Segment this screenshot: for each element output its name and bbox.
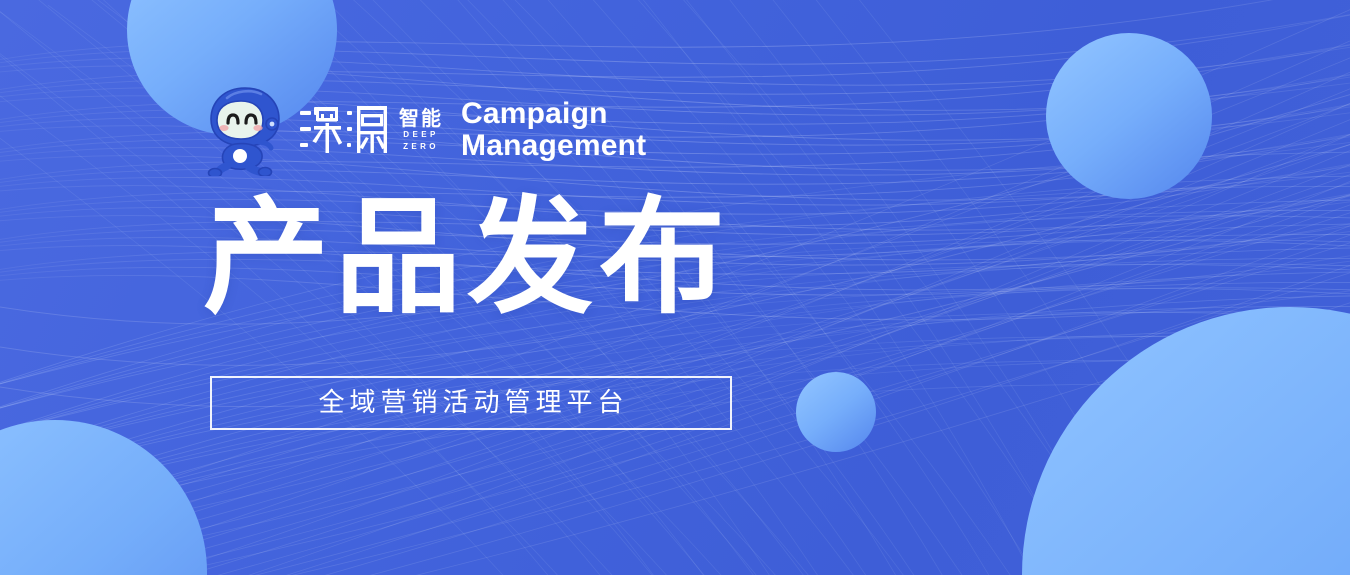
brand-sub-lockup: 智能 DEEP ZERO [399, 108, 443, 152]
subtitle-box: 全域营销活动管理平台 [210, 376, 732, 430]
product-launch-banner: 智能 DEEP ZERO Campaign Management 产品发布 全域… [0, 0, 1350, 575]
page-title: 产品发布 [203, 190, 731, 326]
robot-mascot-icon [203, 84, 287, 176]
brand-sub-en-line1: DEEP [403, 130, 438, 140]
brand-sub-cn-label: 智能 [399, 108, 443, 128]
brand-logo-cn [299, 102, 391, 158]
banner-content: 智能 DEEP ZERO Campaign Management 产品发布 全域… [0, 0, 1350, 575]
brand-sub-en-line2: ZERO [403, 142, 439, 152]
brand-lockup: 智能 DEEP ZERO Campaign Management [299, 98, 646, 163]
brand-header: 智能 DEEP ZERO Campaign Management [203, 84, 646, 176]
subtitle-text: 全域营销活动管理平台 [313, 390, 628, 416]
product-name-en: Campaign Management [461, 98, 646, 163]
